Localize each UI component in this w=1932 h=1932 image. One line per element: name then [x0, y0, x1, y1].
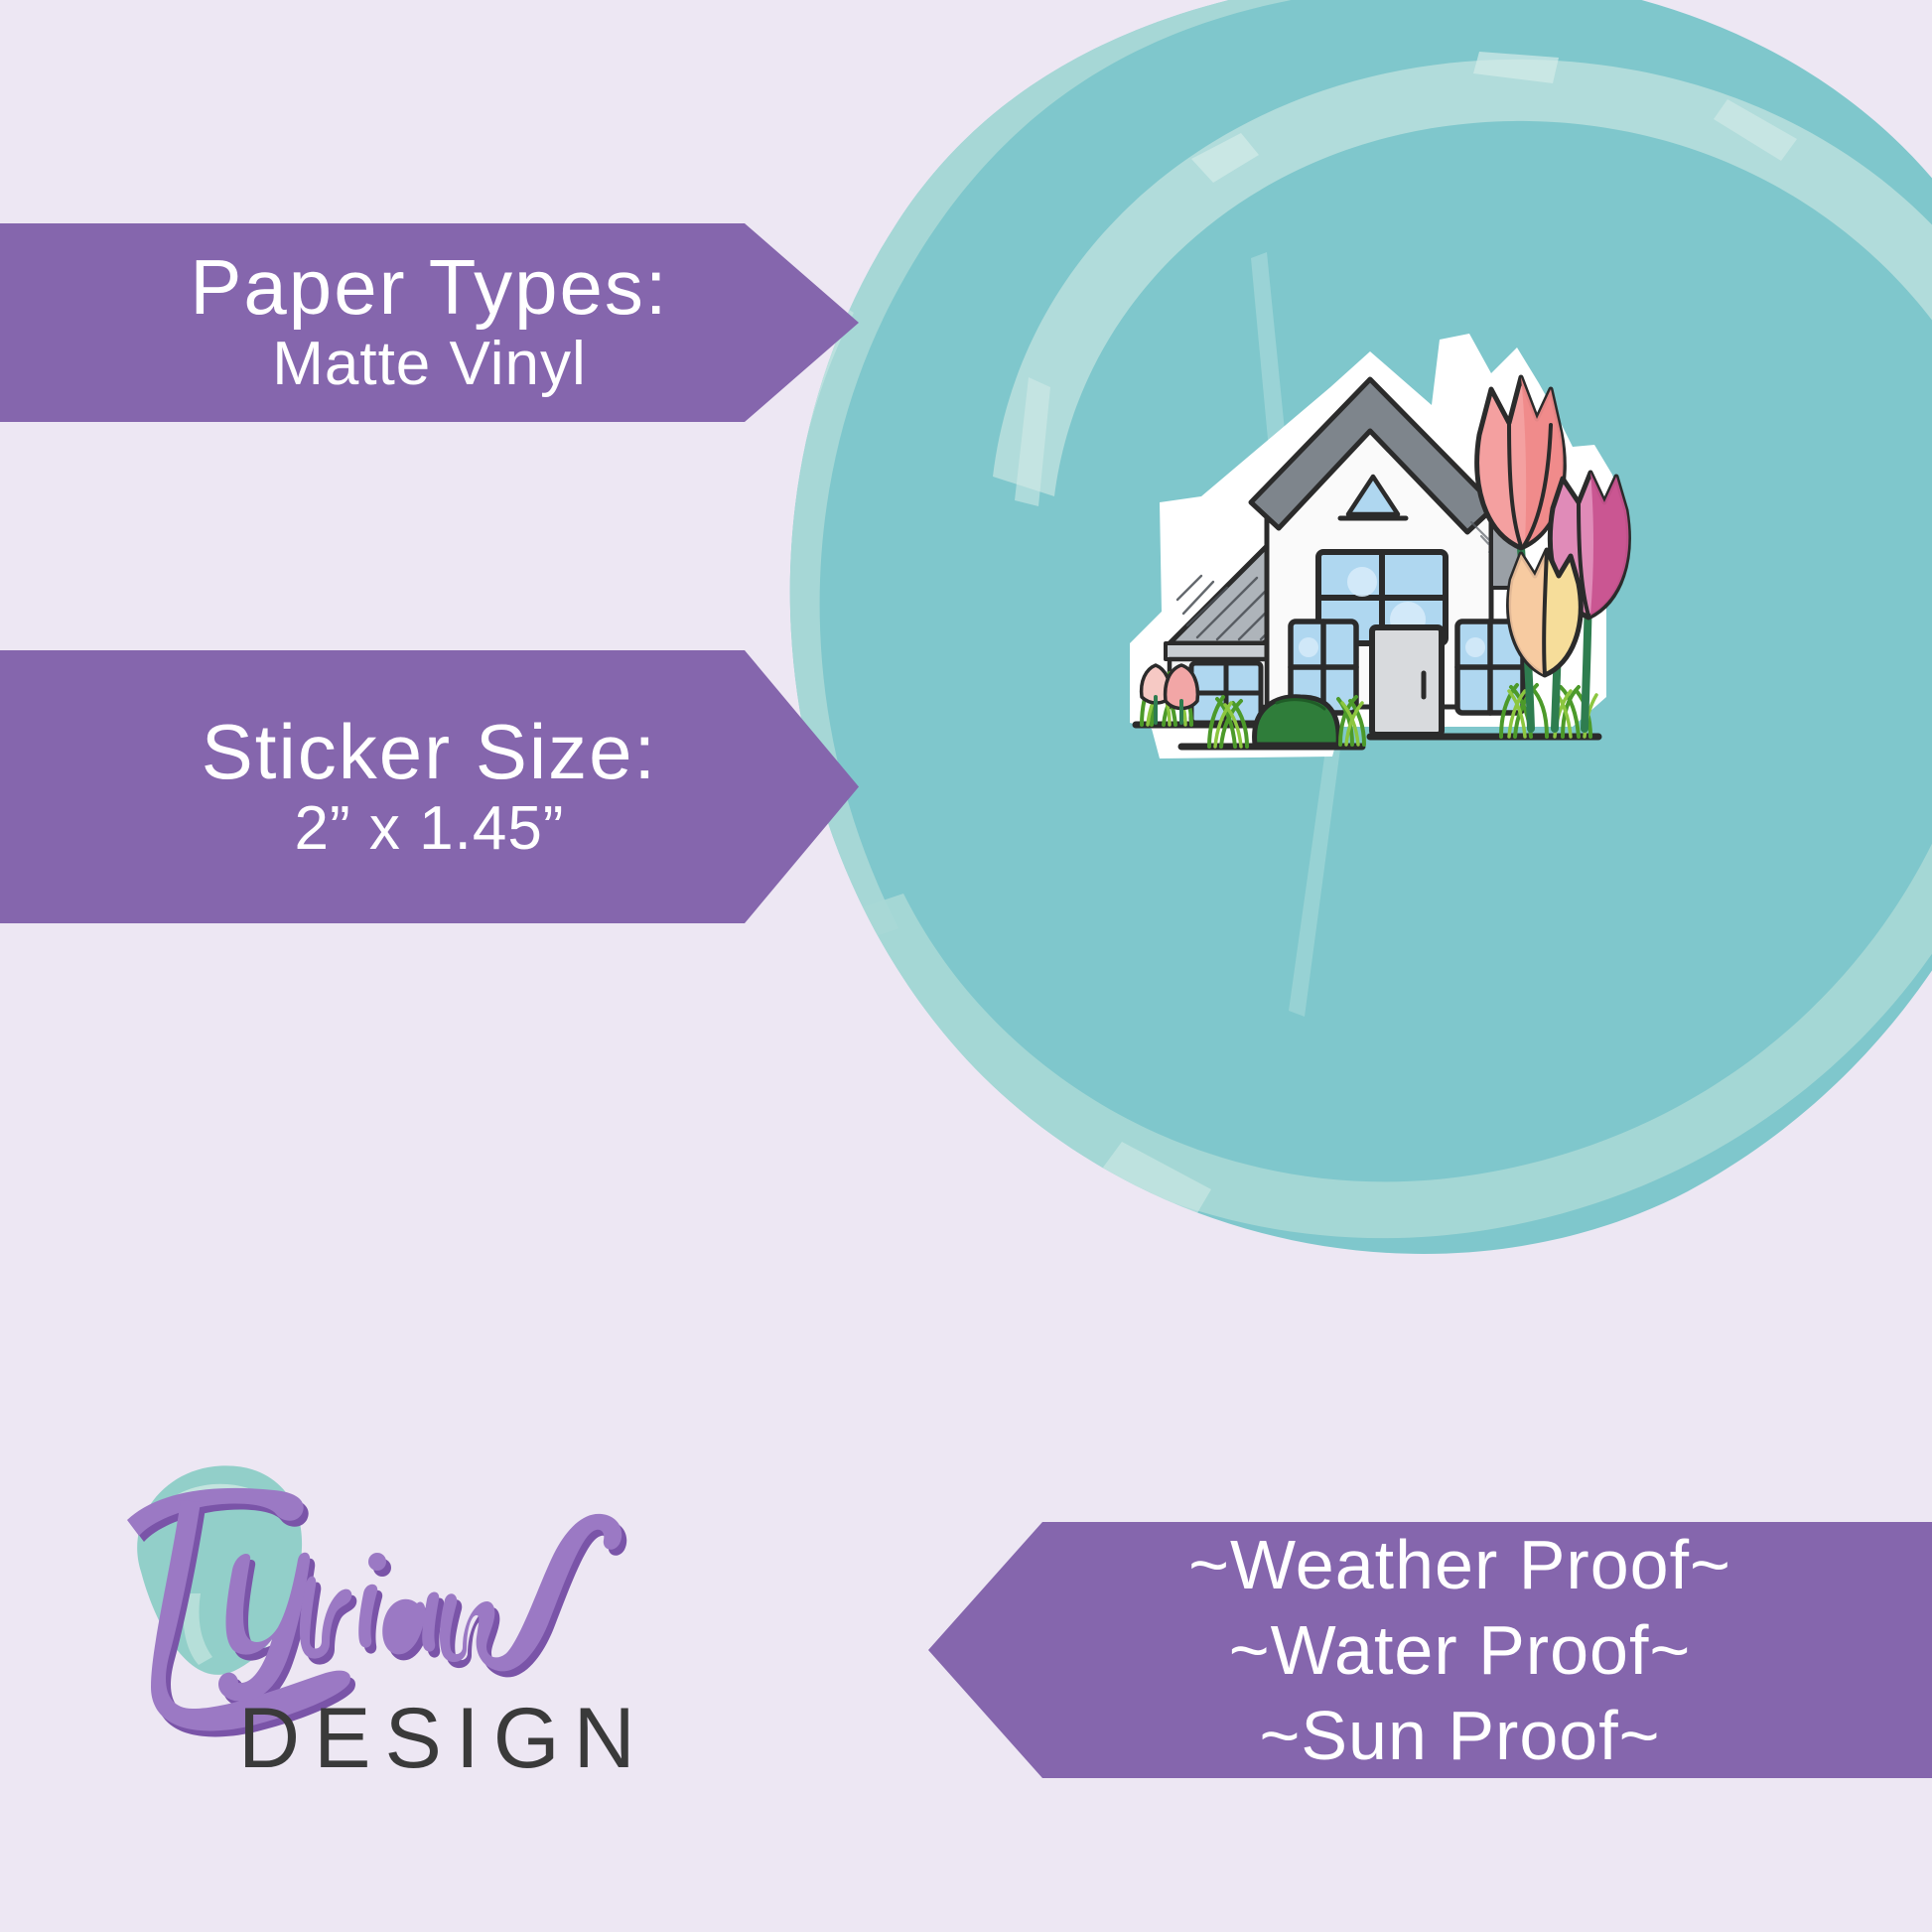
proof-line-water: ~Water Proof~	[1229, 1607, 1692, 1693]
teal-fleck-b	[1473, 52, 1559, 83]
front-door	[1372, 627, 1442, 735]
banner-paper-types: Paper Types: Matte Vinyl	[0, 223, 859, 422]
teal-rim-bottom	[844, 794, 1932, 1238]
upper-window-glint-a	[1347, 567, 1377, 597]
sticker-size-value: 2” x 1.45”	[295, 793, 565, 864]
paper-types-value: Matte Vinyl	[272, 329, 587, 399]
bush	[1255, 697, 1339, 745]
proof-line-weather: ~Weather Proof~	[1188, 1522, 1731, 1607]
banner-sticker-size: Sticker Size: 2” x 1.45”	[0, 650, 859, 923]
sticker-size-title: Sticker Size:	[202, 710, 657, 793]
banner-proof-features: ~Weather Proof~ ~Water Proof~ ~Sun Proof…	[928, 1522, 1932, 1778]
roof-left-eave	[1166, 643, 1267, 659]
proof-line-sun: ~Sun Proof~	[1259, 1693, 1660, 1778]
paper-types-title: Paper Types:	[190, 245, 668, 329]
teal-fleck-c	[1714, 99, 1797, 161]
teal-fleck-a	[1191, 133, 1259, 183]
left-window-glint	[1299, 637, 1318, 657]
sticker-listing-graphic: Paper Types: Matte Vinyl Sticker Size: 2…	[0, 0, 1932, 1932]
logo-wordmark: DESIGN	[238, 1690, 649, 1788]
house-with-tulips-sticker	[1042, 328, 1718, 824]
teal-fleck-e	[1100, 1142, 1211, 1223]
right-window-glint	[1465, 637, 1485, 657]
